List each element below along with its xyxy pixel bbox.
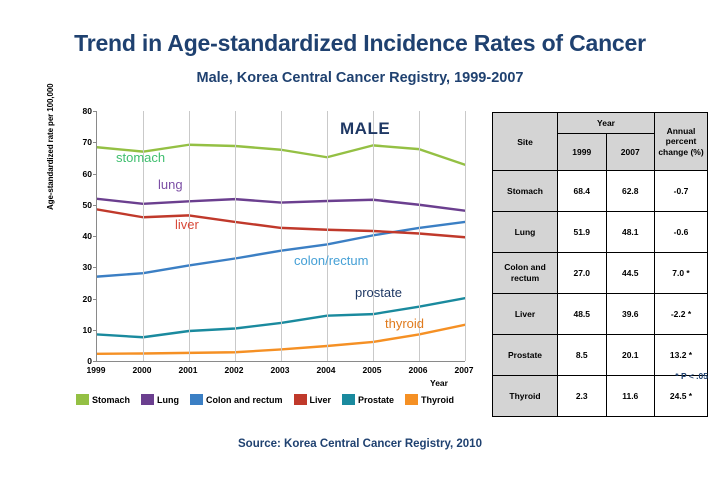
col-header-apc: Annual percent change (%) bbox=[655, 113, 708, 171]
legend-item[interactable]: Colon and rectum bbox=[190, 394, 283, 405]
legend-swatch bbox=[141, 394, 154, 405]
chart-inline-title: MALE bbox=[340, 119, 390, 139]
cell-apc: 13.2 * bbox=[655, 335, 708, 376]
y-tick-label: 50 bbox=[68, 200, 92, 210]
cell-1999: 48.5 bbox=[558, 294, 607, 335]
cell-site: Liver bbox=[493, 294, 558, 335]
col-header-year: Year bbox=[558, 113, 655, 134]
x-tick-label: 1999 bbox=[87, 365, 106, 375]
gridline bbox=[373, 111, 374, 361]
cell-apc: -0.6 bbox=[655, 212, 708, 253]
cell-site: Lung bbox=[493, 212, 558, 253]
legend-label: Thyroid bbox=[421, 395, 454, 405]
cell-apc: 24.5 * bbox=[655, 376, 708, 417]
gridline bbox=[465, 111, 466, 361]
x-tick-label: 2000 bbox=[133, 365, 152, 375]
y-tickmark bbox=[93, 142, 97, 143]
cell-2007: 39.6 bbox=[606, 294, 655, 335]
col-header-site: Site bbox=[493, 113, 558, 171]
legend-label: Liver bbox=[310, 395, 332, 405]
cell-2007: 44.5 bbox=[606, 253, 655, 294]
x-tick-label: 2007 bbox=[455, 365, 474, 375]
cell-2007: 48.1 bbox=[606, 212, 655, 253]
cell-1999: 2.3 bbox=[558, 376, 607, 417]
cell-site: Colon and rectum bbox=[493, 253, 558, 294]
legend-swatch bbox=[190, 394, 203, 405]
y-axis-ticks: 01020304050607080 bbox=[68, 111, 92, 361]
cell-1999: 8.5 bbox=[558, 335, 607, 376]
y-tickmark bbox=[93, 361, 97, 362]
legend-item[interactable]: Thyroid bbox=[405, 394, 454, 405]
x-axis-title: Year bbox=[430, 378, 448, 388]
table-header-row: Site Year Annual percent change (%) bbox=[493, 113, 708, 134]
y-tickmark bbox=[93, 236, 97, 237]
cell-site: Stomach bbox=[493, 171, 558, 212]
cell-1999: 51.9 bbox=[558, 212, 607, 253]
cell-1999: 68.4 bbox=[558, 171, 607, 212]
page-subtitle: Male, Korea Central Cancer Registry, 199… bbox=[0, 70, 720, 86]
x-tick-label: 2003 bbox=[271, 365, 290, 375]
cell-2007: 62.8 bbox=[606, 171, 655, 212]
x-tick-label: 2006 bbox=[409, 365, 428, 375]
slide-page: Trend in Age-standardized Incidence Rate… bbox=[0, 0, 720, 479]
cell-2007: 11.6 bbox=[606, 376, 655, 417]
series-label-prostate: prostate bbox=[355, 285, 402, 300]
cell-site: Thyroid bbox=[493, 376, 558, 417]
y-tickmark bbox=[93, 205, 97, 206]
line-chart: Age-standardized rate per 100,000 010203… bbox=[50, 105, 480, 415]
x-tick-label: 2001 bbox=[179, 365, 198, 375]
y-tick-label: 70 bbox=[68, 137, 92, 147]
x-axis-ticks: 199920002001200220032004200520062007 bbox=[96, 365, 464, 379]
legend-swatch bbox=[405, 394, 418, 405]
gridline bbox=[235, 111, 236, 361]
table-row: Colon and rectum27.044.57.0 * bbox=[493, 253, 708, 294]
cell-apc: -0.7 bbox=[655, 171, 708, 212]
cell-1999: 27.0 bbox=[558, 253, 607, 294]
y-tick-label: 30 bbox=[68, 262, 92, 272]
gridline bbox=[143, 111, 144, 361]
y-tick-label: 60 bbox=[68, 169, 92, 179]
x-tick-label: 2005 bbox=[363, 365, 382, 375]
legend-label: Stomach bbox=[92, 395, 130, 405]
legend-swatch bbox=[342, 394, 355, 405]
source-note: Source: Korea Central Cancer Registry, 2… bbox=[0, 438, 720, 450]
y-tickmark bbox=[93, 299, 97, 300]
legend-label: Colon and rectum bbox=[206, 395, 283, 405]
page-title: Trend in Age-standardized Incidence Rate… bbox=[0, 30, 720, 57]
legend-item[interactable]: Stomach bbox=[76, 394, 130, 405]
legend-label: Lung bbox=[157, 395, 179, 405]
cell-2007: 20.1 bbox=[606, 335, 655, 376]
col-header-1999: 1999 bbox=[558, 134, 607, 171]
cell-apc: 7.0 * bbox=[655, 253, 708, 294]
y-tick-label: 40 bbox=[68, 231, 92, 241]
legend-label: Prostate bbox=[358, 395, 394, 405]
table-footnote: * P < .05 bbox=[492, 371, 708, 381]
legend-item[interactable]: Lung bbox=[141, 394, 179, 405]
table-row: Liver48.539.6-2.2 * bbox=[493, 294, 708, 335]
chart-legend: StomachLungColon and rectumLiverProstate… bbox=[50, 394, 480, 405]
y-axis-title: Age-standardized rate per 100,000 bbox=[46, 50, 55, 210]
y-tickmark bbox=[93, 267, 97, 268]
legend-item[interactable]: Prostate bbox=[342, 394, 394, 405]
series-label-colon-rectum: colon/rectum bbox=[294, 253, 368, 268]
table-row: Thyroid2.311.624.5 * bbox=[493, 376, 708, 417]
series-label-thyroid: thyroid bbox=[385, 316, 424, 331]
series-label-lung: lung bbox=[158, 177, 183, 192]
col-header-2007: 2007 bbox=[606, 134, 655, 171]
legend-item[interactable]: Liver bbox=[294, 394, 332, 405]
table-row: Prostate8.520.113.2 * bbox=[493, 335, 708, 376]
gridline bbox=[327, 111, 328, 361]
cell-apc: -2.2 * bbox=[655, 294, 708, 335]
y-tick-label: 80 bbox=[68, 106, 92, 116]
table-row: Stomach68.462.8-0.7 bbox=[493, 171, 708, 212]
legend-swatch bbox=[76, 394, 89, 405]
x-tick-label: 2002 bbox=[225, 365, 244, 375]
series-label-stomach: stomach bbox=[116, 150, 165, 165]
y-tickmark bbox=[93, 174, 97, 175]
legend-swatch bbox=[294, 394, 307, 405]
y-tickmark bbox=[93, 330, 97, 331]
gridline bbox=[189, 111, 190, 361]
table-row: Lung51.948.1-0.6 bbox=[493, 212, 708, 253]
gridline bbox=[281, 111, 282, 361]
y-tick-label: 10 bbox=[68, 325, 92, 335]
cell-site: Prostate bbox=[493, 335, 558, 376]
y-tickmark bbox=[93, 111, 97, 112]
x-tick-label: 2004 bbox=[317, 365, 336, 375]
y-tick-label: 20 bbox=[68, 294, 92, 304]
series-label-liver: liver bbox=[175, 217, 199, 232]
